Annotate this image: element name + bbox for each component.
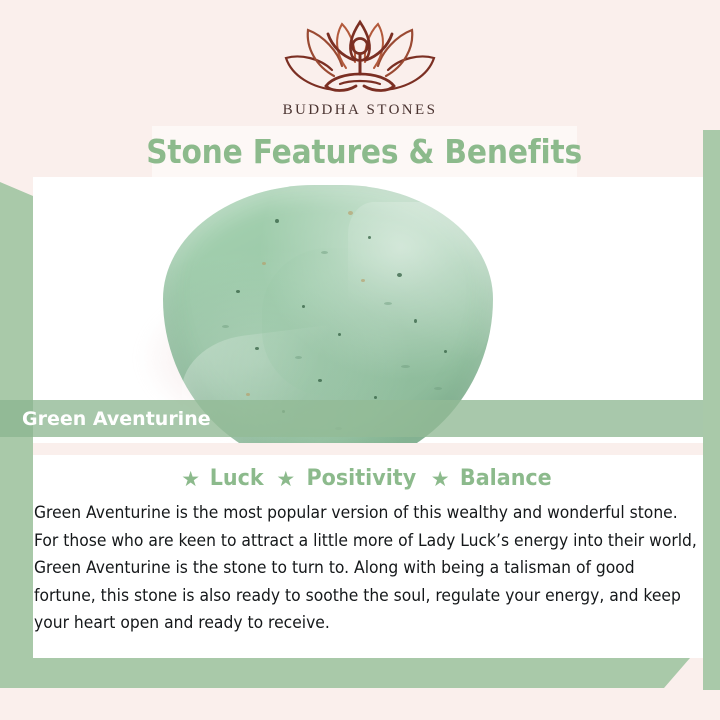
keyword-balance: Balance	[460, 466, 552, 491]
stone-facet-highlight-c	[262, 248, 414, 396]
stone-features-infographic: BUDDHA STONES Stone Features & Benefits	[0, 0, 720, 720]
page-title: Stone Features & Benefits	[147, 132, 583, 171]
title-banner: Stone Features & Benefits	[152, 126, 577, 177]
decorative-green-band-right	[703, 130, 720, 690]
description-text: Green Aventurine is the most popular ver…	[34, 500, 698, 638]
brand-wordmark: BUDDHA STONES	[0, 102, 720, 119]
lotus-meditation-figure-icon	[276, 14, 444, 100]
keyword-list: ★ Luck ★ Positivity ★ Balance	[33, 466, 703, 491]
stone-name-label: Green Aventurine	[22, 400, 211, 437]
brand-logo: BUDDHA STONES	[0, 14, 720, 119]
star-icon: ★	[276, 467, 295, 492]
keyword-positivity: Positivity	[306, 466, 416, 491]
section-divider	[33, 443, 703, 455]
keyword-luck: Luck	[209, 466, 263, 491]
decorative-green-band-bottom	[0, 658, 690, 688]
star-icon: ★	[431, 467, 450, 492]
star-icon: ★	[181, 467, 200, 492]
